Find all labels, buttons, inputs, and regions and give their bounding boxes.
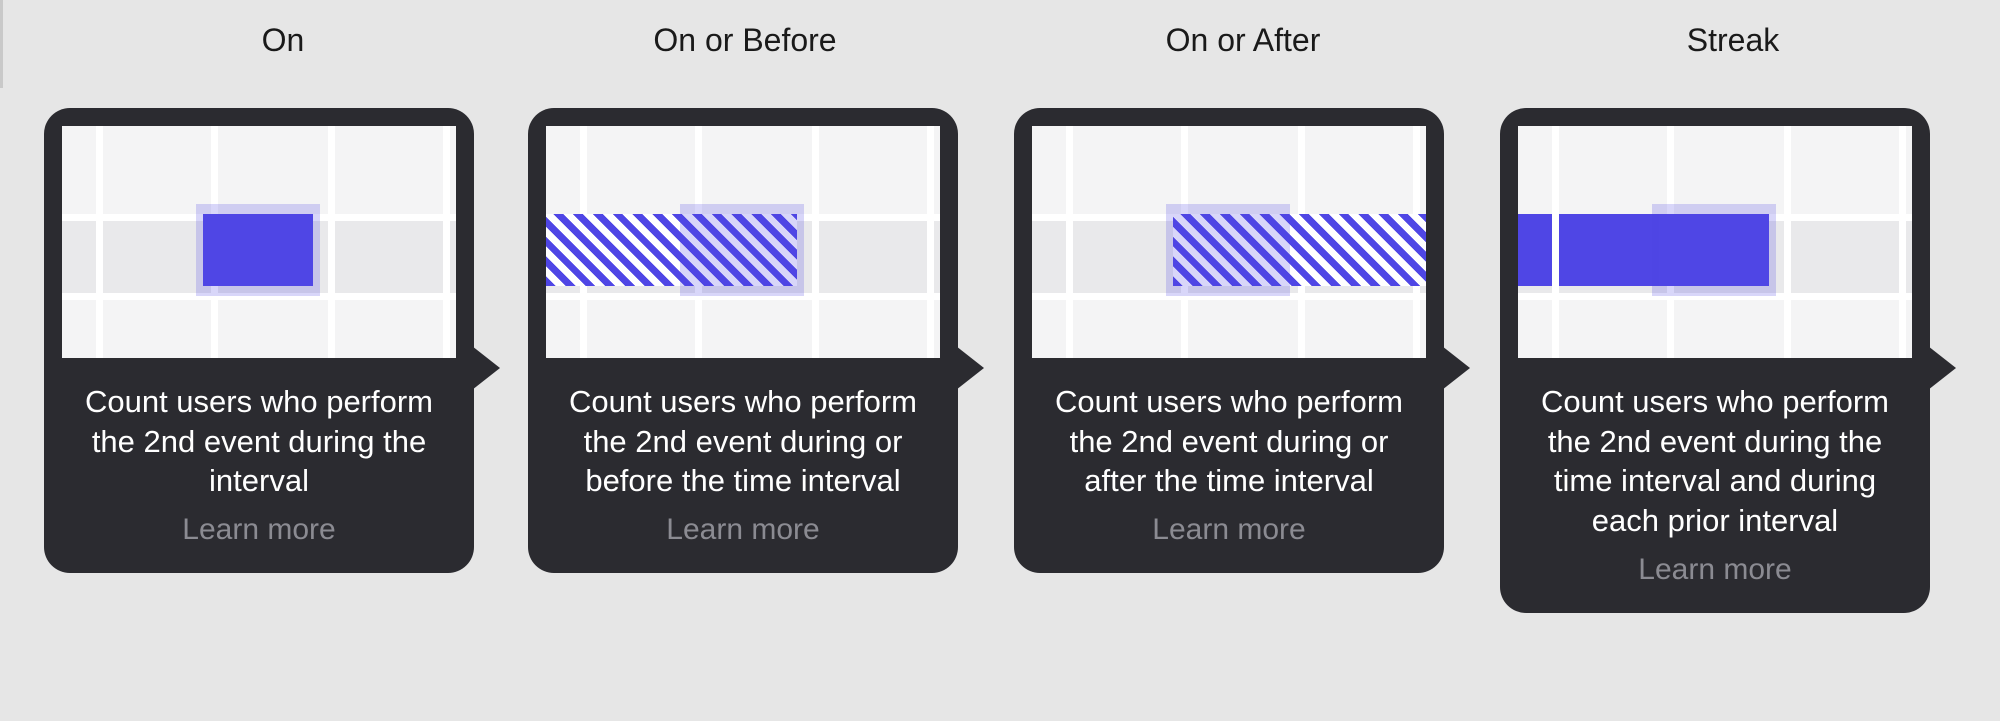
diagram-on [62, 126, 456, 358]
diagram-on-or-after [1032, 126, 1426, 358]
learn-more-link[interactable]: Learn more [62, 513, 456, 547]
card-description: Count users who perform the 2nd event du… [70, 382, 448, 501]
card-body-on: Count users who perform the 2nd event du… [44, 108, 474, 573]
diagram-on-or-before [546, 126, 940, 358]
card-description: Count users who perform the 2nd event du… [554, 382, 932, 501]
comparison-cards: Count users who perform the 2nd event du… [0, 0, 2000, 721]
card-on-or-before: Count users who perform the 2nd event du… [528, 108, 958, 573]
learn-more-link[interactable]: Learn more [1032, 513, 1426, 547]
card-tail-arrow-icon [1442, 346, 1470, 390]
event-mark-striped [1173, 214, 1426, 286]
card-body-on-or-before: Count users who perform the 2nd event du… [528, 108, 958, 573]
card-description: Count users who perform the 2nd event du… [1526, 382, 1904, 541]
learn-more-link[interactable]: Learn more [1518, 553, 1912, 587]
event-mark-solid [1559, 214, 1667, 286]
card-description: Count users who perform the 2nd event du… [1040, 382, 1418, 501]
card-tail-arrow-icon [956, 346, 984, 390]
diagram-marks [1518, 126, 1912, 358]
learn-more-link[interactable]: Learn more [546, 513, 940, 547]
event-mark-striped [546, 214, 797, 286]
card-tail-arrow-icon [1928, 346, 1956, 390]
card-body-streak: Count users who perform the 2nd event du… [1500, 108, 1930, 613]
event-mark-solid [1518, 214, 1552, 286]
card-on: Count users who perform the 2nd event du… [44, 108, 474, 573]
event-mark-solid [203, 214, 313, 286]
card-streak: Count users who perform the 2nd event du… [1500, 108, 1930, 613]
diagram-marks [62, 126, 456, 358]
card-body-on-or-after: Count users who perform the 2nd event du… [1014, 108, 1444, 573]
card-on-or-after: Count users who perform the 2nd event du… [1014, 108, 1444, 573]
diagram-streak [1518, 126, 1912, 358]
event-mark-solid [1659, 214, 1769, 286]
card-tail-arrow-icon [472, 346, 500, 390]
diagram-marks [1032, 126, 1426, 358]
diagram-marks [546, 126, 940, 358]
